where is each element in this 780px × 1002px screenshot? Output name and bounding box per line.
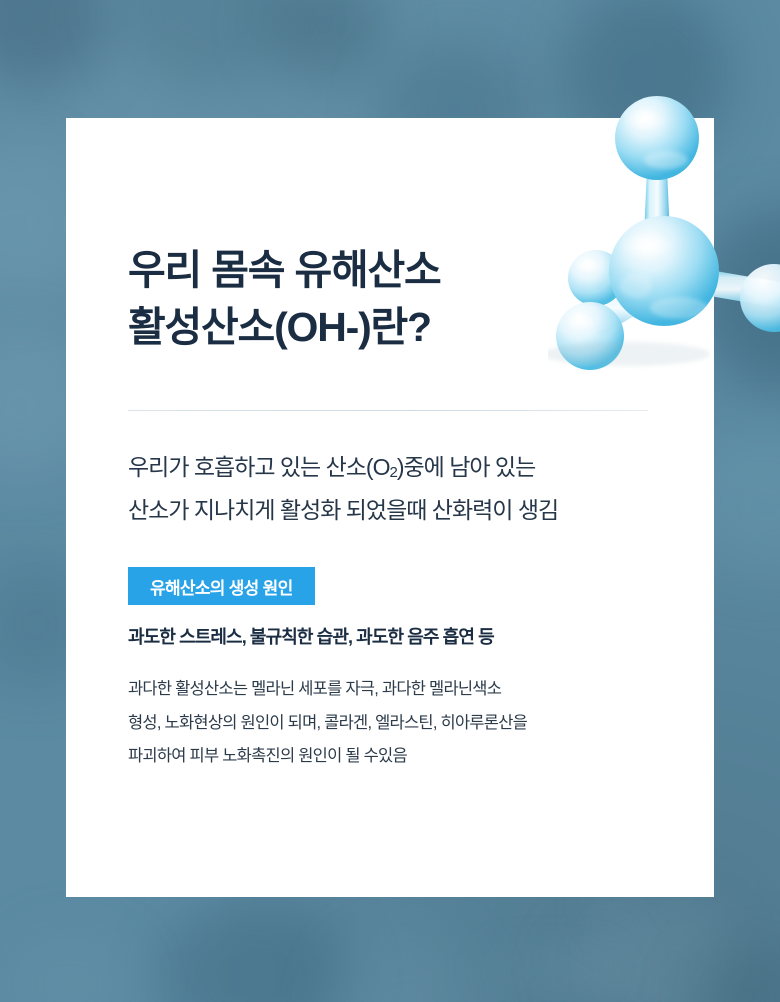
paragraph-line-2: 형성, 노화현상의 원인이 되며, 콜라겐, 엘라스틴, 히아루론산을	[128, 707, 676, 741]
paragraph-line-3: 파괴하여 피부 노화촉진의 원인이 될 수있음	[128, 740, 676, 774]
headline-divider	[128, 410, 648, 411]
causes-highlight-text: 과도한 스트레스, 불규칙한 습관, 과도한 음주 흡연 등	[128, 623, 668, 649]
status-badge-label: 유해산소의 생성 원인	[150, 574, 293, 599]
subtitle-text-after: )중에 남아 있는	[397, 454, 535, 480]
description-paragraph: 과다한 활성산소는 멜라닌 세포를 자극, 과다한 멜라닌색소 형성, 노화현상…	[128, 673, 676, 774]
headline-line-2: 활성산소(OH-)란?	[128, 300, 648, 356]
subtitle-line-2: 산소가 지나치게 활성화 되었을때 산화력이 생김	[128, 491, 668, 525]
status-badge: 유해산소의 생성 원인	[128, 567, 315, 605]
paragraph-line-1: 과다한 활성산소는 멜라닌 세포를 자극, 과다한 멜라닌색소	[128, 673, 676, 707]
headline-line-1: 우리 몸속 유해산소	[128, 243, 648, 299]
subtitle-text-before: 우리가 호흡하고 있는 산소(O	[128, 454, 389, 480]
oxygen-subscript: 2	[389, 464, 396, 481]
subtitle-line-1: 우리가 호흡하고 있는 산소(O2)중에 남아 있는	[128, 448, 668, 482]
